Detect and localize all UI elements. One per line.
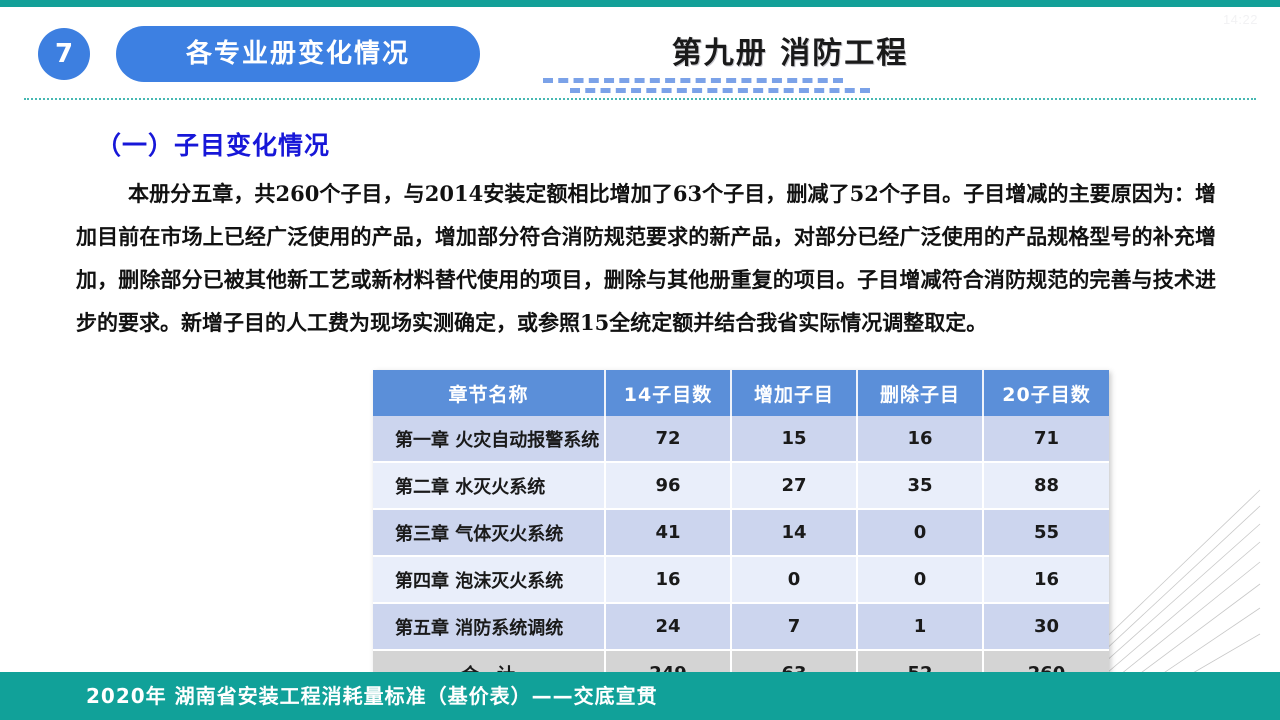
cell-2014-count: 16 bbox=[605, 556, 731, 603]
timestamp-label: 14:22 bbox=[1223, 12, 1258, 27]
column-header-2020-count: 20子目数 bbox=[983, 370, 1109, 416]
cell-2020-count: 16 bbox=[983, 556, 1109, 603]
cell-chapter-name: 第五章 消防系统调统 bbox=[373, 603, 605, 650]
table-row: 第二章 水灭火系统 96 27 35 88 bbox=[373, 462, 1109, 509]
decorative-dash-rule-lower bbox=[570, 88, 870, 98]
column-header-2014-count: 14子目数 bbox=[605, 370, 731, 416]
cell-2020-count: 30 bbox=[983, 603, 1109, 650]
cell-added: 0 bbox=[731, 556, 857, 603]
slide-canvas: 14:22 7 各专业册变化情况 第九册 消防工程 （一）子目变化情况 本册分五… bbox=[0, 0, 1280, 720]
cell-2014-count: 96 bbox=[605, 462, 731, 509]
table-row: 第三章 气体灭火系统 41 14 0 55 bbox=[373, 509, 1109, 556]
section-pill-title: 各专业册变化情况 bbox=[116, 26, 480, 82]
cell-chapter-name: 第二章 水灭火系统 bbox=[373, 462, 605, 509]
table-row: 第一章 火灾自动报警系统 72 15 16 71 bbox=[373, 416, 1109, 462]
table-header-row: 章节名称 14子目数 增加子目 删除子目 20子目数 bbox=[373, 370, 1109, 416]
cell-2014-count: 72 bbox=[605, 416, 731, 462]
cell-removed: 1 bbox=[857, 603, 983, 650]
cell-chapter-name: 第四章 泡沫灭火系统 bbox=[373, 556, 605, 603]
cell-2014-count: 24 bbox=[605, 603, 731, 650]
cell-added: 15 bbox=[731, 416, 857, 462]
cell-added: 14 bbox=[731, 509, 857, 556]
cell-chapter-name: 第一章 火灾自动报警系统 bbox=[373, 416, 605, 462]
table-row: 第四章 泡沫灭火系统 16 0 0 16 bbox=[373, 556, 1109, 603]
chapter-change-table-wrapper: 章节名称 14子目数 增加子目 删除子目 20子目数 第一章 火灾自动报警系统 … bbox=[373, 370, 1109, 696]
cell-removed: 0 bbox=[857, 509, 983, 556]
cell-2020-count: 88 bbox=[983, 462, 1109, 509]
column-header-removed: 删除子目 bbox=[857, 370, 983, 416]
cell-2014-count: 41 bbox=[605, 509, 731, 556]
body-paragraph: 本册分五章，共260个子目，与2014安装定额相比增加了63个子目，删减了52个… bbox=[76, 172, 1216, 344]
section-number-badge: 7 bbox=[38, 28, 90, 80]
cell-removed: 16 bbox=[857, 416, 983, 462]
cell-2020-count: 71 bbox=[983, 416, 1109, 462]
decorative-dash-rule-upper bbox=[543, 78, 843, 88]
cell-added: 7 bbox=[731, 603, 857, 650]
cell-removed: 35 bbox=[857, 462, 983, 509]
top-accent-bar bbox=[0, 0, 1280, 7]
column-header-chapter-name: 章节名称 bbox=[373, 370, 605, 416]
header-divider bbox=[24, 98, 1256, 100]
footer-title: 2020年 湖南省安装工程消耗量标准（基价表）——交底宣贯 bbox=[0, 672, 1280, 720]
subsection-heading: （一）子目变化情况 bbox=[96, 126, 330, 162]
chapter-change-table: 章节名称 14子目数 增加子目 删除子目 20子目数 第一章 火灾自动报警系统 … bbox=[373, 370, 1109, 696]
column-header-added: 增加子目 bbox=[731, 370, 857, 416]
chapter-title: 第九册 消防工程 bbox=[560, 28, 1020, 72]
cell-chapter-name: 第三章 气体灭火系统 bbox=[373, 509, 605, 556]
cell-added: 27 bbox=[731, 462, 857, 509]
table-row: 第五章 消防系统调统 24 7 1 30 bbox=[373, 603, 1109, 650]
cell-2020-count: 55 bbox=[983, 509, 1109, 556]
cell-removed: 0 bbox=[857, 556, 983, 603]
